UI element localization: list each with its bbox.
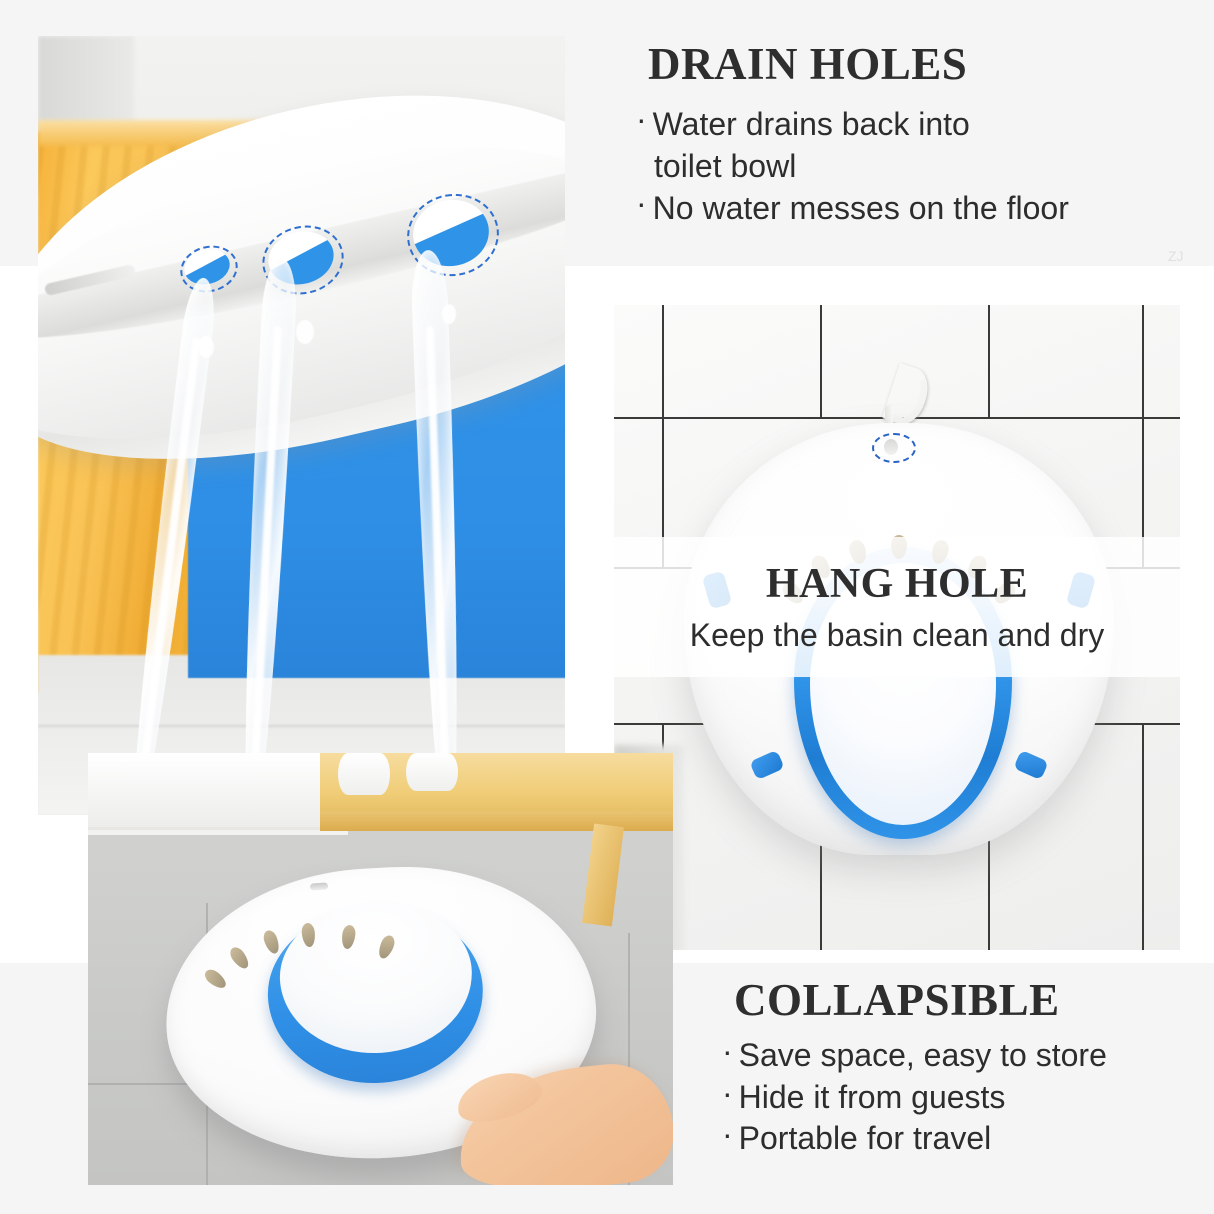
hang-hole-highlight-ring xyxy=(872,433,916,463)
watermark: ZJ xyxy=(1168,248,1184,264)
bullet-item: · Hide it from guests xyxy=(722,1077,1192,1119)
tile-grout-line xyxy=(662,305,664,417)
bullet-dot: · xyxy=(722,1077,733,1109)
rubber-pad xyxy=(749,750,785,780)
white-cabinet xyxy=(88,761,338,830)
hang-hole xyxy=(310,882,328,890)
bullet-text: toilet bowl xyxy=(654,145,796,187)
bullet-text: Water drains back into xyxy=(653,103,970,145)
bullet-text: Hide it from guests xyxy=(739,1077,1006,1119)
bullet-dot: · xyxy=(722,1118,733,1150)
collapsible-bullets: · Save space, easy to store · Hide it fr… xyxy=(722,1035,1192,1160)
bullet-dot: · xyxy=(636,103,647,135)
water-droplet xyxy=(442,304,456,324)
tile-grout-line xyxy=(1142,305,1144,417)
bullet-dot: · xyxy=(636,187,647,219)
text-block-collapsible: COLLAPSIBLE · Save space, easy to store … xyxy=(722,978,1192,1160)
bullet-text: Portable for travel xyxy=(739,1118,992,1160)
text-block-hang-hole: HANG HOLE Keep the basin clean and dry xyxy=(614,537,1180,677)
hang-hole-subtitle: Keep the basin clean and dry xyxy=(690,619,1105,651)
hang-hole-title: HANG HOLE xyxy=(766,563,1028,605)
water-droplet xyxy=(198,336,214,358)
bullet-item-continuation: toilet bowl xyxy=(654,145,1196,187)
drain-holes-bullets: · Water drains back into toilet bowl · N… xyxy=(636,103,1196,230)
drain-holes-title: DRAIN HOLES xyxy=(648,42,1196,87)
bullet-text: Save space, easy to store xyxy=(739,1035,1107,1077)
infographic-canvas: DRAIN HOLES · Water drains back into toi… xyxy=(0,0,1214,1214)
bullet-item: · Water drains back into xyxy=(636,103,1196,145)
photo-collapsible xyxy=(88,753,673,1185)
tile-grout-line xyxy=(820,305,822,417)
text-block-drain-holes: DRAIN HOLES · Water drains back into toi… xyxy=(636,42,1196,230)
water-droplet xyxy=(296,320,314,344)
floor-tile-line xyxy=(38,725,565,727)
toilet-paper-roll xyxy=(406,753,458,791)
bullet-item: · Save space, easy to store xyxy=(722,1035,1192,1077)
bullet-item: · No water messes on the floor xyxy=(636,187,1196,229)
tile-grout-line xyxy=(988,305,990,417)
bullet-text: No water messes on the floor xyxy=(653,187,1069,229)
photo-drain-holes xyxy=(38,36,565,815)
rubber-pad xyxy=(1013,750,1049,780)
bullet-dot: · xyxy=(722,1035,733,1067)
toilet-paper-roll xyxy=(338,753,390,795)
collapsible-title: COLLAPSIBLE xyxy=(734,978,1192,1023)
bullet-item: · Portable for travel xyxy=(722,1118,1192,1160)
tile-grout-line xyxy=(1142,723,1144,950)
